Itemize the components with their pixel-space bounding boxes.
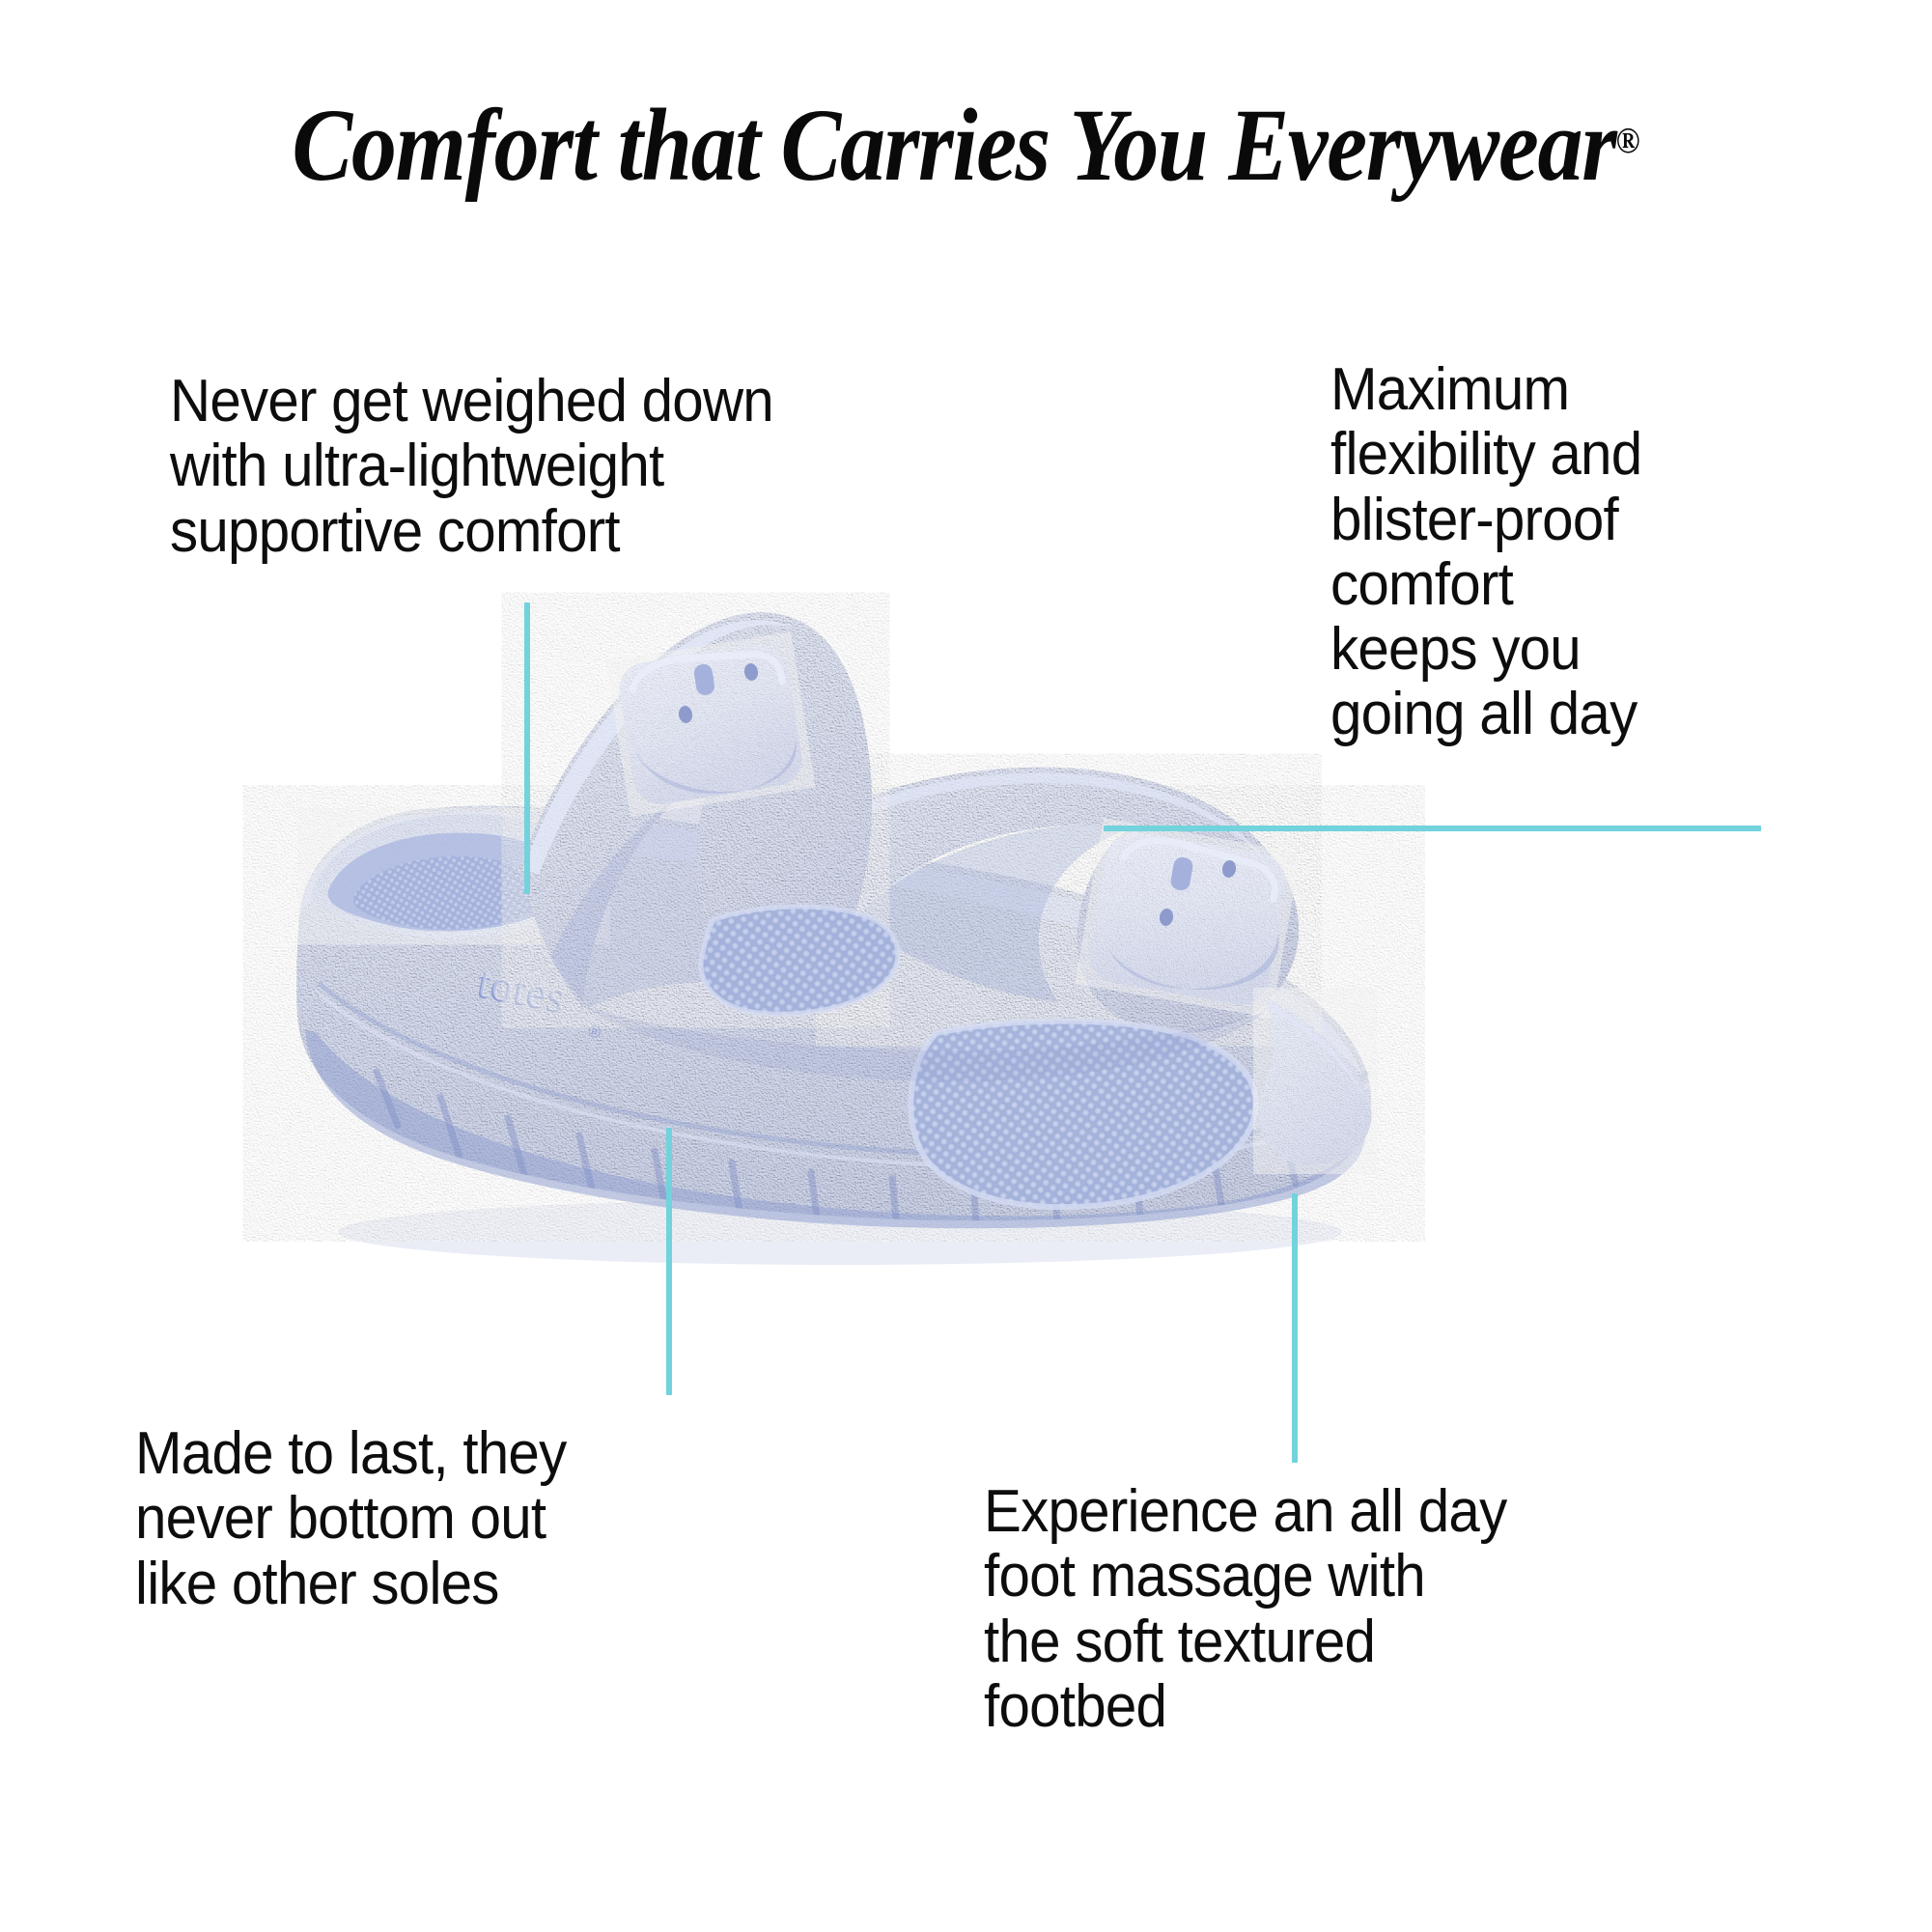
product-image: totes totes ®	[261, 579, 1410, 1342]
leader-line-flexibility	[1104, 826, 1761, 831]
headline-text: Comfort that Carries You Everywear	[292, 89, 1615, 203]
callout-durability: Made to last, they never bottom out like…	[135, 1421, 770, 1616]
page-title: Comfort that Carries You Everywear®	[116, 95, 1816, 198]
leader-line-lightweight	[524, 602, 530, 894]
callout-footbed: Experience an all day foot massage with …	[984, 1479, 1710, 1739]
lower-buckle	[1085, 827, 1291, 1009]
callout-lightweight: Never get weighed down with ultra-lightw…	[170, 369, 1023, 564]
registered-trademark-icon: ®	[1616, 121, 1640, 161]
upper-buckle	[616, 640, 806, 808]
leader-line-durability	[666, 1128, 672, 1395]
callout-flexibility: Maximum flexibility and blister-proof co…	[1330, 357, 1803, 747]
leader-line-footbed	[1292, 1193, 1298, 1463]
